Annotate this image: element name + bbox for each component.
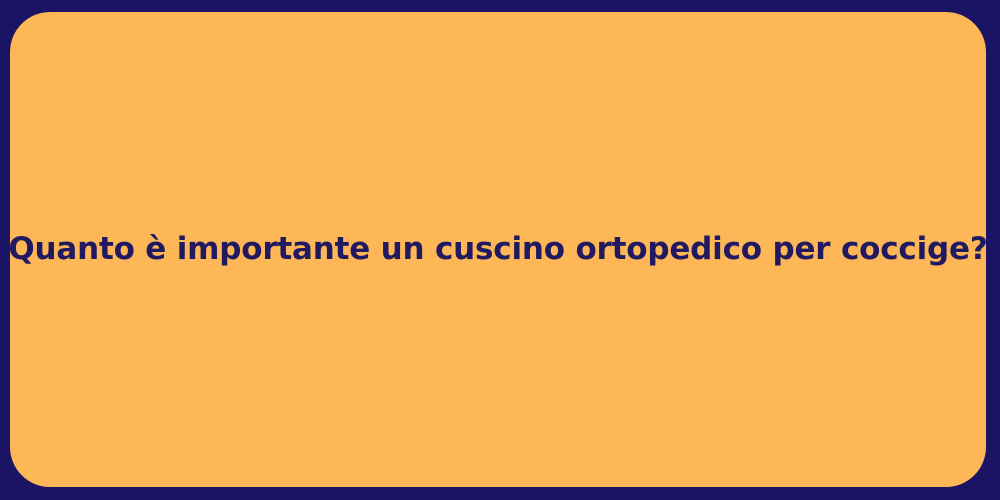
banner-heading: Quanto è importante un cuscino ortopedic… <box>8 230 987 269</box>
banner-outer-frame: Quanto è importante un cuscino ortopedic… <box>0 0 1000 500</box>
banner-panel: Quanto è importante un cuscino ortopedic… <box>10 12 986 487</box>
